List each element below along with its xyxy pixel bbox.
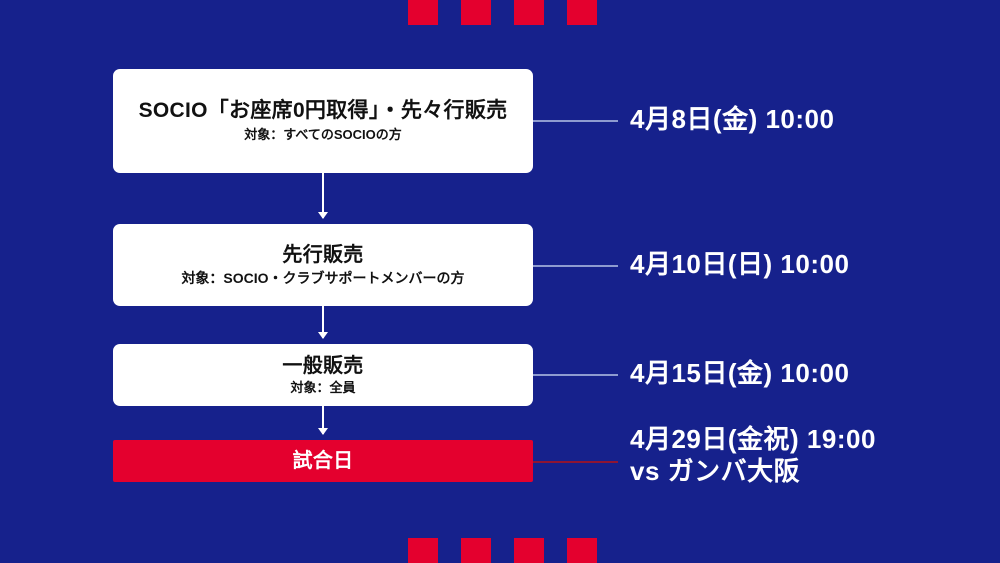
date-label-senko: 4月10日(日) 10:00 xyxy=(630,249,849,281)
decorative-square-bottom-4 xyxy=(567,538,597,563)
flow-step-matchday: 試合日 xyxy=(113,440,533,482)
arrow-down-icon-2 xyxy=(322,306,324,338)
date-connector-line-2 xyxy=(533,265,618,267)
decorative-square-bottom-1 xyxy=(408,538,438,563)
flow-step-socio-title: SOCIO「お座席0円取得」・先々行販売 xyxy=(139,99,508,123)
flow-step-socio: SOCIO「お座席0円取得」・先々行販売 対象：すべてのSOCIOの方 xyxy=(113,69,533,173)
decorative-square-top-1 xyxy=(408,0,438,25)
flow-step-ippan: 一般販売 対象：全員 xyxy=(113,344,533,406)
flow-step-ippan-subtitle: 対象：全員 xyxy=(290,380,355,396)
date-connector-line-1 xyxy=(533,120,618,122)
arrow-down-icon-3 xyxy=(322,406,324,434)
matchday-opponent: vs ガンバ大阪 xyxy=(630,456,876,488)
matchday-datetime: 4月29日(金祝) 19:00 xyxy=(630,424,876,454)
date-connector-line-4 xyxy=(533,461,618,463)
date-label-socio: 4月8日(金) 10:00 xyxy=(630,104,834,136)
date-label-ippan: 4月15日(金) 10:00 xyxy=(630,358,849,390)
decorative-square-top-2 xyxy=(461,0,491,25)
flow-step-senko: 先行販売 対象：SOCIO・クラブサポートメンバーの方 xyxy=(113,224,533,306)
date-label-matchday: 4月29日(金祝) 19:00 vs ガンバ大阪 xyxy=(630,424,876,487)
flow-step-socio-subtitle: 対象：すべてのSOCIOの方 xyxy=(244,127,401,143)
flow-step-senko-subtitle: 対象：SOCIO・クラブサポートメンバーの方 xyxy=(181,270,464,287)
decorative-square-top-3 xyxy=(514,0,544,25)
arrow-down-icon-1 xyxy=(322,173,324,218)
ticket-sales-schedule-graphic: SOCIO「お座席0円取得」・先々行販売 対象：すべてのSOCIOの方 4月8日… xyxy=(0,0,1000,563)
decorative-square-bottom-3 xyxy=(514,538,544,563)
decorative-square-bottom-2 xyxy=(461,538,491,563)
flow-step-matchday-title: 試合日 xyxy=(293,450,354,473)
date-connector-line-3 xyxy=(533,374,618,376)
decorative-square-top-4 xyxy=(567,0,597,25)
flow-step-senko-title: 先行販売 xyxy=(282,244,363,267)
flow-step-ippan-title: 一般販売 xyxy=(282,355,363,378)
